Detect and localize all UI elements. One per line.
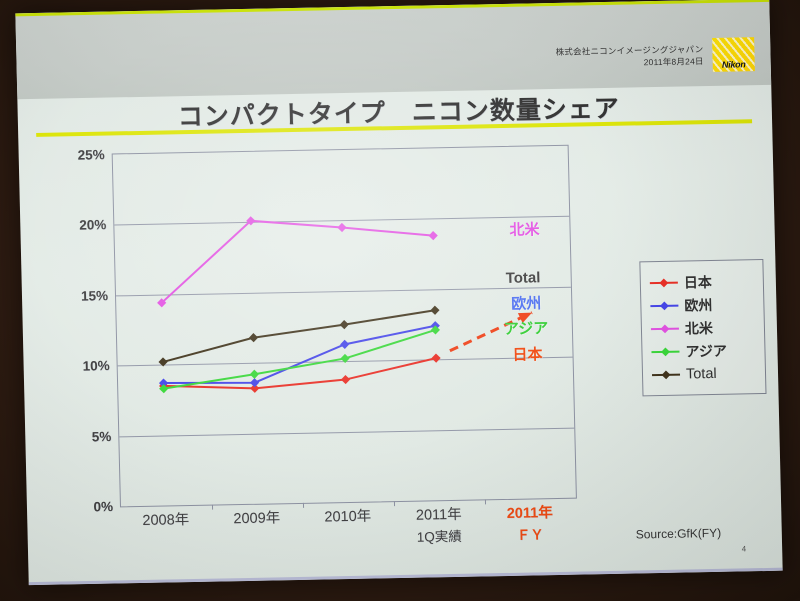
legend-item-アジア: アジア <box>650 338 759 363</box>
y-tick-label: 20% <box>79 217 106 233</box>
header-identity: 株式会社ニコンイメージングジャパン 2011年8月24日 Nikon <box>555 37 755 75</box>
x-axis-label-2: 2010年 <box>324 507 371 530</box>
legend-label: 欧州 <box>684 294 712 315</box>
data-point-marker <box>340 354 349 363</box>
x-axis-labels: 2008年2009年2010年2011年1Q実績2011年ＦＹ <box>120 503 576 568</box>
inline-label-Total: Total <box>506 269 541 287</box>
data-point-marker <box>250 378 259 387</box>
x-axis-label-0: 2008年 <box>142 510 189 533</box>
legend-swatch-icon <box>651 367 681 382</box>
data-point-marker <box>428 231 437 240</box>
plot-area: 0%5%10%15%20%25% 北米Total欧州アジア日本 <box>112 145 577 508</box>
page-number: 4 <box>742 544 747 553</box>
legend-item-日本: 日本 <box>649 269 758 294</box>
legend-item-欧州: 欧州 <box>649 292 758 317</box>
legend-swatch-icon <box>650 321 680 336</box>
data-point-marker <box>249 333 258 342</box>
series-line-欧州 <box>162 326 436 385</box>
inline-label-アジア: アジア <box>504 317 549 339</box>
x-label-line1: 2010年 <box>324 509 371 526</box>
legend-item-北米: 北米 <box>650 315 759 340</box>
data-point-marker <box>340 320 349 329</box>
y-tick-label: 10% <box>82 358 109 374</box>
chart-legend: 日本欧州北米アジアTotal <box>639 259 766 396</box>
data-point-marker <box>430 306 439 315</box>
slide-bottom-edge <box>29 568 783 585</box>
header-accent-line <box>15 0 769 16</box>
inline-label-北米: 北米 <box>509 218 540 240</box>
x-label-line1: 2009年 <box>233 510 280 527</box>
source-note: Source:GfK(FY) <box>636 526 722 542</box>
series-line-Total <box>162 310 436 362</box>
data-point-marker <box>158 357 167 366</box>
data-point-marker <box>337 223 346 232</box>
x-label-line2: ＦＹ <box>507 525 553 546</box>
x-axis-label-4: 2011年ＦＹ <box>507 503 554 546</box>
x-axis-label-1: 2009年 <box>233 508 280 531</box>
legend-label: 北米 <box>685 317 713 338</box>
legend-item-Total: Total <box>651 361 760 386</box>
y-tick-label: 0% <box>93 499 113 514</box>
projected-slide: 株式会社ニコンイメージングジャパン 2011年8月24日 Nikon コンパクト… <box>15 0 782 585</box>
legend-label: アジア <box>685 340 727 361</box>
x-axis-label-3: 2011年1Q実績 <box>416 505 463 548</box>
x-label-line1: 2008年 <box>142 512 189 529</box>
x-label-line1: 2011年 <box>416 507 462 524</box>
y-tick-label: 25% <box>77 147 104 163</box>
slide-header-band: 株式会社ニコンイメージングジャパン 2011年8月24日 Nikon <box>15 0 771 99</box>
data-point-marker <box>340 340 349 349</box>
legend-swatch-icon <box>649 275 679 290</box>
inline-label-欧州: 欧州 <box>511 292 542 314</box>
data-point-marker <box>341 375 350 384</box>
series-line-アジア <box>162 330 436 389</box>
legend-label: Total <box>686 365 717 382</box>
chart: 0%5%10%15%20%25% 北米Total欧州アジア日本 2008年200… <box>36 131 763 545</box>
legend-swatch-icon <box>649 298 679 313</box>
inline-label-日本: 日本 <box>512 343 543 365</box>
nikon-logo: Nikon <box>712 37 755 72</box>
logo-wordmark: Nikon <box>722 59 746 69</box>
y-tick-label: 5% <box>92 429 112 444</box>
data-point-marker <box>431 353 440 362</box>
x-label-line2: 1Q実績 <box>416 527 462 548</box>
data-point-marker <box>250 370 259 379</box>
legend-swatch-icon <box>650 344 680 359</box>
projection-room: 株式会社ニコンイメージングジャパン 2011年8月24日 Nikon コンパクト… <box>0 0 800 601</box>
x-label-line1: 2011年 <box>507 505 553 522</box>
y-tick-label: 15% <box>81 288 108 304</box>
series-line-北米 <box>160 217 435 302</box>
legend-label: 日本 <box>684 271 712 292</box>
